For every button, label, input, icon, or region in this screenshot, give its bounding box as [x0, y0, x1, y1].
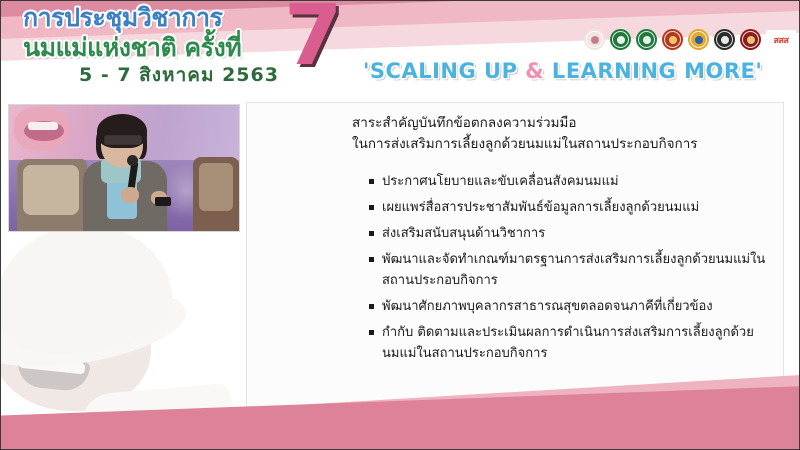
video-presenter-remote [155, 197, 171, 206]
logo-royal-institute-icon [740, 29, 761, 50]
logo-royal-college-icon [662, 29, 683, 50]
list-item: ส่งเสริมสนับสนุนด้านวิชาการ [369, 223, 769, 244]
presentation-slide: การประชุมวิชาการ นมแม่แห่งชาติ ครั้งที่ … [0, 0, 800, 450]
logo-core [617, 36, 625, 44]
logo-core [747, 36, 755, 44]
conference-title-line-2: นมแม่แห่งชาติ ครั้งที่ [23, 33, 293, 62]
list-item: ประกาศนโยบายและขับเคลื่อนสังคมนมแม่ [369, 171, 769, 192]
tagline-ampersand: & [525, 59, 544, 83]
logo-core [721, 36, 729, 44]
video-speaker-hand-left [121, 187, 139, 203]
logo-nursing-council-icon [714, 29, 735, 50]
logo-core [669, 36, 677, 44]
logo-core [695, 36, 703, 44]
list-item: เผยแพร่สื่อสารประชาสัมพันธ์ข้อมูลการเลี้… [369, 197, 769, 218]
logo-core [643, 36, 651, 44]
edition-number: 7 [284, 1, 342, 77]
content-panel: สาระสำคัญบันทึกข้อตกลงความร่วมมือ ในการส… [246, 102, 784, 427]
conference-title: การประชุมวิชาการ นมแม่แห่งชาติ ครั้งที่ [23, 3, 293, 62]
logo-thaihealth-sss-icon: สสส [766, 30, 796, 50]
video-microphone-head [127, 155, 138, 166]
list-item: พัฒนาและจัดทำเกณฑ์มาตรฐานการส่งเสริมการเ… [369, 249, 769, 291]
video-speaker-glasses [104, 135, 142, 145]
content-heading-line-2: ในการส่งเสริมการเลี้ยงลูกด้วยนมแม่ในสถาน… [352, 134, 698, 155]
partner-logos-row: สสส [584, 29, 796, 50]
tagline-part-1: 'SCALING UP [363, 59, 525, 83]
content-heading-line-1: สาระสำคัญบันทึกข้อตกลงความร่วมมือ [352, 113, 698, 134]
speaker-video-thumbnail[interactable] [8, 104, 240, 232]
logo-thai-emblem-icon [688, 29, 709, 50]
logo-department-health-icon [636, 29, 657, 50]
list-item: พัฒนาศักยภาพบุคลากรสาธารณสุขตลอดจนภาคีที… [369, 296, 769, 317]
slide-body: สาระสำคัญบันทึกข้อตกลงความร่วมมือ ในการส… [1, 96, 800, 450]
logo-core [591, 36, 599, 44]
agreement-bullet-list: ประกาศนโยบายและขับเคลื่อนสังคมนมแม่ เผยแ… [369, 171, 769, 369]
logo-ministry-public-health-icon [610, 29, 631, 50]
logo-breastfeeding-foundation-icon [584, 29, 605, 50]
video-chair-right-cushion [199, 163, 233, 211]
video-chair-left-cushion [23, 165, 79, 215]
content-heading: สาระสำคัญบันทึกข้อตกลงความร่วมมือ ในการส… [352, 113, 698, 155]
conference-date: 5 - 7 สิงหาคม 2563 [79, 60, 279, 90]
tagline-part-2: LEARNING MORE' [544, 59, 762, 83]
list-item: กำกับ ติดตามและประเมินผลการดำเนินการส่งเ… [369, 322, 769, 364]
slide-header-banner: การประชุมวิชาการ นมแม่แห่งชาติ ครั้งที่ … [1, 1, 800, 96]
conference-title-line-1: การประชุมวิชาการ [23, 3, 293, 32]
conference-tagline: 'SCALING UP & LEARNING MORE' [363, 59, 762, 83]
video-backdrop-teeth [28, 122, 58, 130]
